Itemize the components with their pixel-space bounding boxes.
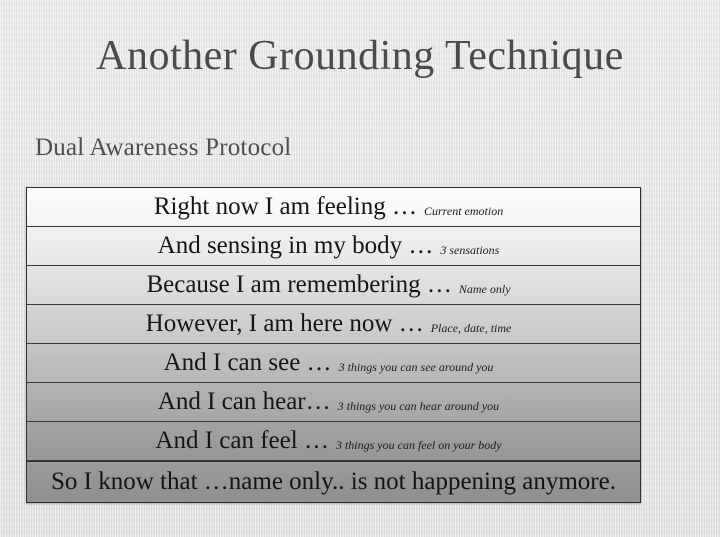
protocol-phrase: However, I am here now … <box>146 309 424 339</box>
protocol-phrase: And I can see … <box>164 348 332 378</box>
protocol-phrase: Because I am remembering … <box>146 270 451 300</box>
dual-awareness-protocol-table: Right now I am feeling … Current emotion… <box>26 187 641 503</box>
table-row: And sensing in my body … 3 sensations <box>27 227 640 266</box>
slide-subtitle: Dual Awareness Protocol <box>35 132 291 164</box>
table-row-closing: So I know that …name only.. is not happe… <box>27 461 640 502</box>
protocol-hint: Current emotion <box>424 203 503 226</box>
slide-background: Another Grounding Technique Dual Awarene… <box>0 0 720 537</box>
protocol-phrase: And I can feel … <box>155 426 329 456</box>
protocol-hint: Place, date, time <box>431 320 512 343</box>
table-row: Right now I am feeling … Current emotion <box>27 188 640 227</box>
protocol-phrase: And sensing in my body … <box>158 231 434 261</box>
table-row: Because I am remembering … Name only <box>27 266 640 305</box>
table-row: And I can see … 3 things you can see aro… <box>27 344 640 383</box>
protocol-hint: 3 sensations <box>440 242 499 265</box>
protocol-hint: 3 things you can feel on your body <box>336 437 502 460</box>
protocol-hint: Name only <box>459 281 511 304</box>
protocol-phrase: Right now I am feeling … <box>154 192 417 222</box>
protocol-closing-statement: So I know that …name only.. is not happe… <box>27 467 640 497</box>
table-row: And I can feel … 3 things you can feel o… <box>27 422 640 461</box>
protocol-hint: 3 things you can see around you <box>339 359 494 382</box>
table-row: However, I am here now … Place, date, ti… <box>27 305 640 344</box>
protocol-hint: 3 things you can hear around you <box>338 398 500 421</box>
page-title: Another Grounding Technique <box>0 30 720 82</box>
protocol-phrase: And I can hear… <box>158 387 331 417</box>
table-row: And I can hear… 3 things you can hear ar… <box>27 383 640 422</box>
